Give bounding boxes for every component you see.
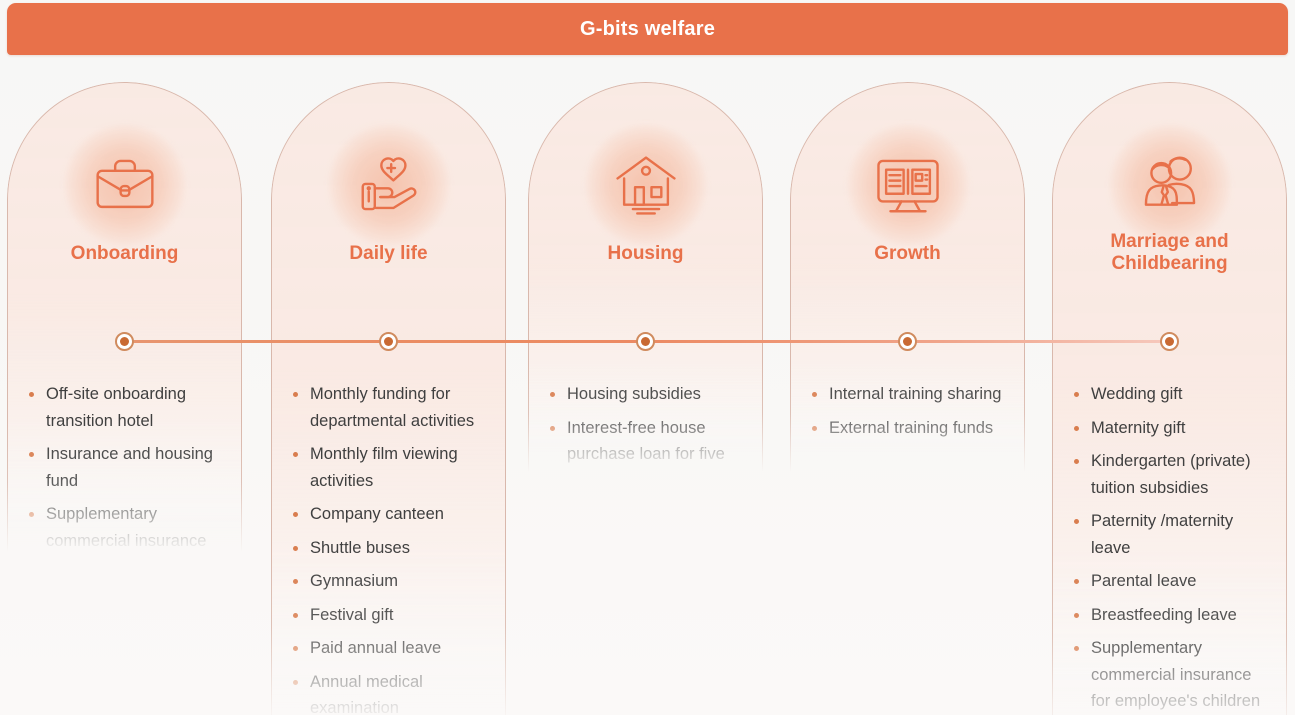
couple-family-icon — [1135, 150, 1205, 220]
list-item: Annual medical examination — [290, 669, 493, 715]
list-item: Off-site onboarding transition hotel — [26, 381, 229, 434]
benefits-list: Off-site onboarding transition hotel Ins… — [8, 381, 241, 561]
column-title: Onboarding — [8, 243, 241, 265]
benefits-list: Housing subsidies Interest-free house pu… — [529, 381, 762, 501]
list-item: Wedding gift — [1071, 381, 1274, 408]
icon-container — [65, 125, 185, 245]
column-title: Growth — [791, 243, 1024, 265]
hand-heart-care-icon — [354, 150, 424, 220]
welfare-infographic: G-bits welfare Onboarding Off-site onboa… — [0, 0, 1295, 715]
list-item: Paid annual leave — [290, 635, 493, 662]
list-item: Internal training sharing — [809, 381, 1012, 408]
icon-container — [1110, 125, 1230, 245]
list-item: Paternity /maternity leave — [1071, 508, 1274, 561]
column-title: Housing — [529, 243, 762, 265]
list-item: Festival gift — [290, 602, 493, 629]
timeline-dot-growth — [898, 332, 917, 351]
list-item: Shuttle buses — [290, 535, 493, 562]
welfare-column-growth[interactable]: Growth Internal training sharing Externa… — [790, 82, 1025, 472]
list-item: Insurance and housing fund — [26, 441, 229, 494]
list-item: Supplementary commercial insurance for e… — [1071, 635, 1274, 715]
list-item: Company canteen — [290, 501, 493, 528]
columns-container: Onboarding Off-site onboarding transitio… — [0, 62, 1295, 715]
list-item: Housing subsidies — [547, 381, 750, 408]
list-item: Supplementary commercial insurance — [26, 501, 229, 554]
icon-container — [848, 125, 968, 245]
list-item: Maternity gift — [1071, 415, 1274, 442]
welfare-column-daily-life[interactable]: Daily life Monthly funding for departmen… — [271, 82, 506, 715]
timeline-dot-onboarding — [115, 332, 134, 351]
welfare-column-onboarding[interactable]: Onboarding Off-site onboarding transitio… — [7, 82, 242, 552]
page-title: G-bits welfare — [580, 18, 715, 41]
timeline-dot-marriage-childbearing — [1160, 332, 1179, 351]
list-item: Monthly funding for departmental activit… — [290, 381, 493, 434]
benefits-list: Wedding gift Maternity gift Kindergarten… — [1053, 381, 1286, 715]
briefcase-icon — [90, 150, 160, 220]
list-item: Gymnasium — [290, 568, 493, 595]
icon-container — [329, 125, 449, 245]
list-item: Interest-free house purchase loan for fi… — [547, 415, 750, 495]
list-item: Monthly film viewing activities — [290, 441, 493, 494]
list-item: Breastfeeding leave — [1071, 602, 1274, 629]
timeline-dot-housing — [636, 332, 655, 351]
monitor-book-learning-icon — [873, 150, 943, 220]
icon-container — [586, 125, 706, 245]
column-title: Marriage and Childbearing — [1053, 231, 1286, 275]
benefits-list: Monthly funding for departmental activit… — [272, 381, 505, 715]
header-banner: G-bits welfare — [7, 3, 1288, 55]
list-item: External training funds — [809, 415, 1012, 442]
house-icon — [611, 150, 681, 220]
timeline-dot-daily-life — [379, 332, 398, 351]
welfare-column-housing[interactable]: Housing Housing subsidies Interest-free … — [528, 82, 763, 472]
list-item: Kindergarten (private) tuition subsidies — [1071, 448, 1274, 501]
list-item: Parental leave — [1071, 568, 1274, 595]
benefits-list: Internal training sharing External train… — [791, 381, 1024, 448]
welfare-column-marriage-childbearing[interactable]: Marriage and Childbearing Wedding gift M… — [1052, 82, 1287, 715]
column-title: Daily life — [272, 243, 505, 265]
